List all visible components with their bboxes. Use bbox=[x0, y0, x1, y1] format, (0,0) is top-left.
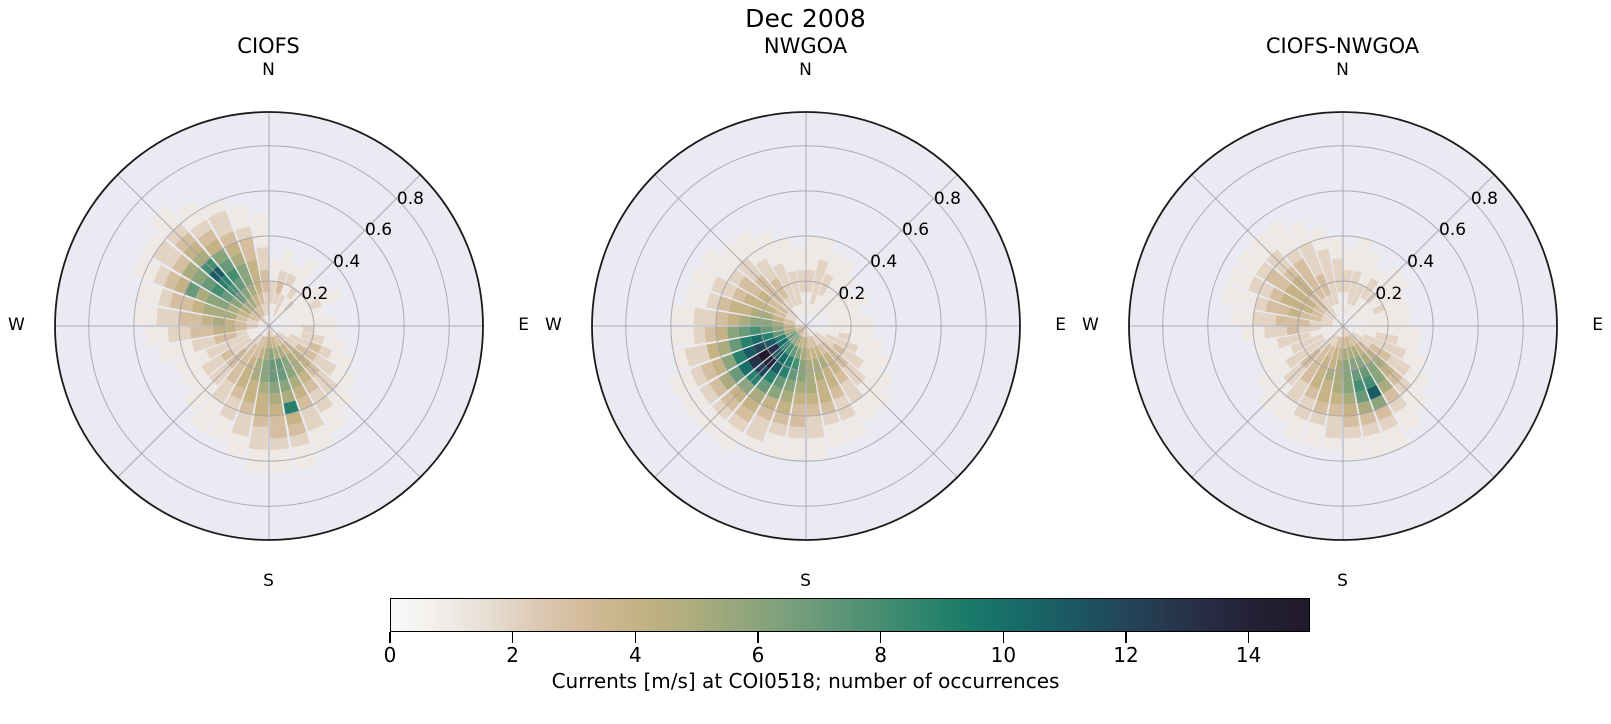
polar-cell bbox=[1264, 313, 1276, 325]
polar-cell bbox=[1398, 327, 1410, 337]
polar-cell bbox=[794, 258, 804, 270]
polar-cell bbox=[201, 327, 213, 337]
polar-cell bbox=[693, 308, 706, 325]
polar-axes-ciofs-nwgoa bbox=[1103, 86, 1583, 566]
polar-cell bbox=[324, 327, 336, 337]
polar-cell bbox=[704, 309, 716, 325]
polar-cell bbox=[806, 393, 818, 405]
polar-cell bbox=[793, 393, 805, 405]
polar-cell bbox=[156, 308, 169, 325]
polar-cell bbox=[738, 315, 750, 325]
colorbar-tick bbox=[1248, 632, 1249, 643]
polar-cell bbox=[861, 315, 873, 325]
polar-cell bbox=[1241, 327, 1253, 343]
polar-cell bbox=[133, 304, 146, 325]
polar-cell bbox=[806, 258, 816, 270]
polar-plot-ciofs-nwgoa bbox=[1103, 86, 1583, 566]
polar-cell bbox=[1331, 258, 1341, 270]
polar-cell bbox=[252, 415, 268, 427]
polar-cell bbox=[178, 327, 190, 341]
radial-tick-label: 0.8 bbox=[1471, 189, 1498, 209]
colorbar-tick-label: 12 bbox=[1113, 643, 1138, 667]
colorbar-tick-labels: 02468101214 bbox=[390, 643, 1310, 669]
radial-tick-label: 0.4 bbox=[870, 252, 897, 272]
polar-cell bbox=[145, 306, 158, 325]
polar-axes-ciofs bbox=[29, 86, 509, 566]
polar-cell bbox=[806, 415, 822, 427]
direction-label-east: E bbox=[1055, 315, 1066, 335]
polar-cell bbox=[785, 437, 804, 450]
polar-cell bbox=[1328, 236, 1342, 248]
direction-label-north: N bbox=[1336, 60, 1349, 80]
polar-cell bbox=[1252, 327, 1264, 341]
radial-tick-label: 0.2 bbox=[838, 284, 865, 304]
polar-cell bbox=[1343, 393, 1355, 405]
polar-cell bbox=[167, 327, 179, 343]
colorbar-area: 02468101214 Currents [m/s] at COI0518; n… bbox=[0, 585, 1611, 724]
polar-cell bbox=[269, 404, 283, 416]
polar-cell bbox=[807, 437, 826, 450]
polar-cell bbox=[257, 382, 267, 394]
polar-cell bbox=[1343, 415, 1359, 427]
polar-cell bbox=[270, 448, 291, 461]
polar-cell bbox=[787, 426, 804, 439]
direction-label-north: N bbox=[799, 60, 812, 80]
direction-label-east: E bbox=[518, 315, 529, 335]
polar-cell bbox=[693, 327, 706, 344]
polar-plot-nwgoa bbox=[566, 86, 1046, 566]
polar-cell bbox=[793, 247, 805, 259]
colorbar-tick bbox=[1003, 632, 1004, 643]
polar-cell bbox=[1330, 393, 1342, 405]
polar-cell bbox=[190, 313, 202, 325]
polar-cell bbox=[190, 327, 202, 339]
polar-cell bbox=[806, 404, 820, 416]
polar-cell bbox=[1330, 247, 1342, 259]
panel-title-ciofs-nwgoa: CIOFS-NWGOA bbox=[1074, 34, 1611, 59]
radial-tick-label: 0.2 bbox=[301, 284, 328, 304]
polar-cell bbox=[178, 311, 190, 325]
radial-tick-label: 0.8 bbox=[934, 189, 961, 209]
polar-cell bbox=[1344, 426, 1361, 439]
panel-title-nwgoa: NWGOA bbox=[537, 34, 1074, 59]
radial-tick-label: 0.2 bbox=[1375, 284, 1402, 304]
colorbar-tick-label: 8 bbox=[874, 643, 887, 667]
colorbar-tick bbox=[1125, 632, 1126, 643]
polar-cell bbox=[1343, 247, 1355, 259]
colorbar-gradient bbox=[390, 598, 1310, 632]
polar-cell bbox=[715, 327, 727, 341]
polar-cell bbox=[270, 426, 287, 439]
colorbar-tick-label: 4 bbox=[629, 643, 642, 667]
polar-cell bbox=[807, 426, 824, 439]
colorbar-tick bbox=[389, 632, 390, 643]
polar-cell bbox=[256, 247, 268, 259]
polar-cell bbox=[682, 327, 695, 346]
radial-tick-label: 0.6 bbox=[365, 220, 392, 240]
polar-panel-ciofs-nwgoa: CIOFS-NWGOA NSWE0.20.40.60.8 bbox=[1074, 0, 1611, 600]
polar-cell bbox=[250, 213, 267, 226]
colorbar-tick-label: 14 bbox=[1236, 643, 1261, 667]
polar-cell bbox=[727, 313, 739, 325]
direction-label-north: N bbox=[262, 60, 275, 80]
polar-cell bbox=[248, 437, 267, 450]
polar-cell bbox=[704, 327, 716, 343]
colorbar-tick bbox=[880, 632, 881, 643]
polar-cell bbox=[789, 415, 805, 427]
polar-cell bbox=[1264, 327, 1276, 339]
polar-cell bbox=[791, 404, 805, 416]
colorbar-tick-label: 6 bbox=[752, 643, 765, 667]
polar-cell bbox=[806, 247, 818, 259]
polar-cell bbox=[1326, 415, 1342, 427]
polar-cell bbox=[1252, 311, 1264, 325]
colorbar-tick bbox=[757, 632, 758, 643]
polar-cell bbox=[794, 382, 804, 394]
polar-cell bbox=[1344, 437, 1363, 450]
polar-cell bbox=[1322, 437, 1341, 450]
polar-cell bbox=[270, 437, 289, 450]
polar-cell bbox=[738, 327, 750, 337]
colorbar-caption: Currents [m/s] at COI0518; number of occ… bbox=[0, 669, 1611, 693]
direction-label-west: W bbox=[545, 315, 562, 335]
polar-cell bbox=[1398, 315, 1410, 325]
polar-cell bbox=[324, 315, 336, 325]
polar-cell bbox=[145, 327, 158, 346]
colorbar-tick-label: 2 bbox=[506, 643, 519, 667]
polar-cell bbox=[250, 426, 267, 439]
radial-tick-label: 0.4 bbox=[333, 252, 360, 272]
polar-cell bbox=[783, 448, 804, 461]
radial-tick-label: 0.6 bbox=[902, 220, 929, 240]
radial-tick-label: 0.6 bbox=[1439, 220, 1466, 240]
polar-cell bbox=[806, 236, 820, 248]
colorbar-tick-label: 0 bbox=[384, 643, 397, 667]
polar-cell bbox=[269, 393, 281, 405]
polar-cell bbox=[1324, 426, 1341, 439]
polar-cell bbox=[682, 306, 695, 325]
polar-axes-nwgoa bbox=[566, 86, 1046, 566]
polar-cell bbox=[269, 382, 279, 394]
polar-cell bbox=[1343, 382, 1353, 394]
polar-cell bbox=[254, 236, 268, 248]
direction-label-west: W bbox=[1082, 315, 1099, 335]
polar-cell bbox=[1328, 404, 1342, 416]
polar-cell bbox=[246, 448, 267, 461]
polar-cell bbox=[1409, 327, 1421, 339]
polar-cell bbox=[806, 382, 816, 394]
polar-cell bbox=[1275, 327, 1287, 337]
polar-cell bbox=[269, 258, 279, 270]
colorbar-tick bbox=[512, 632, 513, 643]
figure-canvas: Dec 2008 CIOFS NSWE0.20.40.60.8 NWGOA NS… bbox=[0, 0, 1611, 724]
colorbar-tick bbox=[635, 632, 636, 643]
polar-cell bbox=[670, 304, 683, 325]
polar-cell bbox=[727, 327, 739, 339]
polar-plot-ciofs bbox=[29, 86, 509, 566]
polar-cell bbox=[1343, 258, 1353, 270]
polar-cell bbox=[1230, 308, 1243, 325]
polar-cell bbox=[861, 327, 873, 337]
panel-title-ciofs: CIOFS bbox=[0, 34, 537, 59]
direction-label-west: W bbox=[8, 315, 25, 335]
direction-label-east: E bbox=[1592, 315, 1603, 335]
polar-cell bbox=[156, 327, 169, 344]
polar-cell bbox=[269, 415, 285, 427]
polar-cell bbox=[1331, 382, 1341, 394]
polar-cell bbox=[1275, 315, 1287, 325]
polar-cell bbox=[1343, 404, 1357, 416]
polar-cell bbox=[807, 448, 828, 461]
polar-cell bbox=[1344, 448, 1365, 461]
polar-panel-nwgoa: NWGOA NSWE0.20.40.60.8 bbox=[537, 0, 1074, 600]
radial-tick-label: 0.8 bbox=[397, 189, 424, 209]
polar-panel-ciofs: CIOFS NSWE0.20.40.60.8 bbox=[0, 0, 537, 600]
polar-cell bbox=[670, 327, 683, 348]
polar-cell bbox=[252, 225, 268, 237]
radial-tick-label: 0.4 bbox=[1407, 252, 1434, 272]
polar-cell bbox=[254, 404, 268, 416]
polar-cell bbox=[715, 311, 727, 325]
polar-cell bbox=[201, 315, 213, 325]
polar-cell bbox=[1241, 309, 1253, 325]
polar-cell bbox=[257, 258, 267, 270]
colorbar-tick-label: 10 bbox=[991, 643, 1016, 667]
polar-cell bbox=[167, 309, 179, 325]
polar-cell bbox=[256, 393, 268, 405]
